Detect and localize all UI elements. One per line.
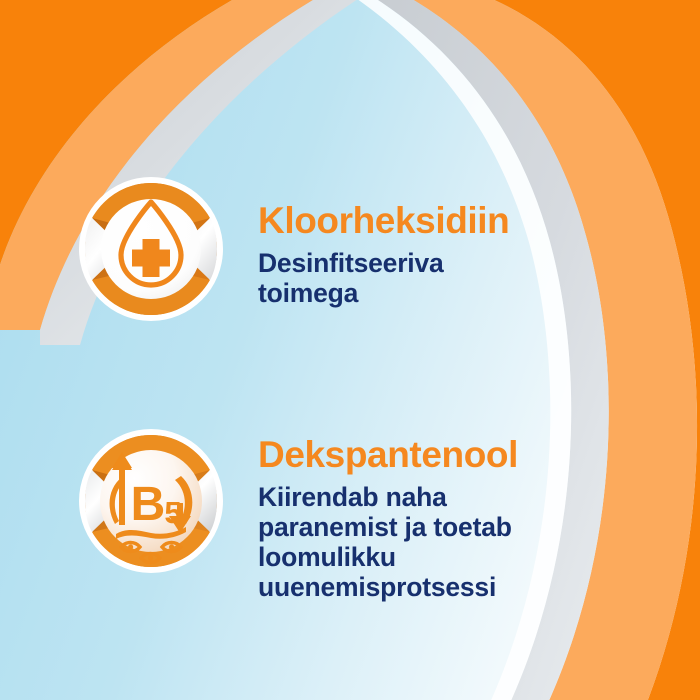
feature-description-line: paranemist ja toetab [258, 512, 518, 542]
feature-description-line: loomulikku [258, 542, 518, 572]
feature-title: Kloorheksidiin [258, 202, 509, 240]
content-layer: Kloorheksidiin Desinfitseeriva toimega [0, 0, 700, 700]
feature-text-block: Dekspantenool Kiirendab naha paranemist … [258, 428, 518, 603]
feature-description: Kiirendab naha paranemist ja toetab loom… [258, 482, 518, 603]
feature-description-line: toimega [258, 278, 509, 308]
feature-title: Dekspantenool [258, 436, 518, 474]
feature-dekspantenool: B 5 Dekspantenool Kiirendab naha [78, 428, 518, 603]
feature-description: Desinfitseeriva toimega [258, 248, 509, 308]
feature-description-line: Kiirendab naha [258, 482, 518, 512]
svg-text:5: 5 [164, 495, 181, 530]
droplet-medical-cross-badge-icon [78, 176, 224, 322]
svg-text:B: B [131, 478, 166, 531]
feature-text-block: Kloorheksidiin Desinfitseeriva toimega [258, 176, 509, 308]
feature-kloorheksidiin: Kloorheksidiin Desinfitseeriva toimega [78, 176, 509, 322]
feature-description-line: Desinfitseeriva [258, 248, 509, 278]
promo-panel: Kloorheksidiin Desinfitseeriva toimega [0, 0, 700, 700]
vitamin-b5-skin-regeneration-badge-icon: B 5 [78, 428, 224, 574]
feature-description-line: uuenemisprotsessi [258, 572, 518, 602]
